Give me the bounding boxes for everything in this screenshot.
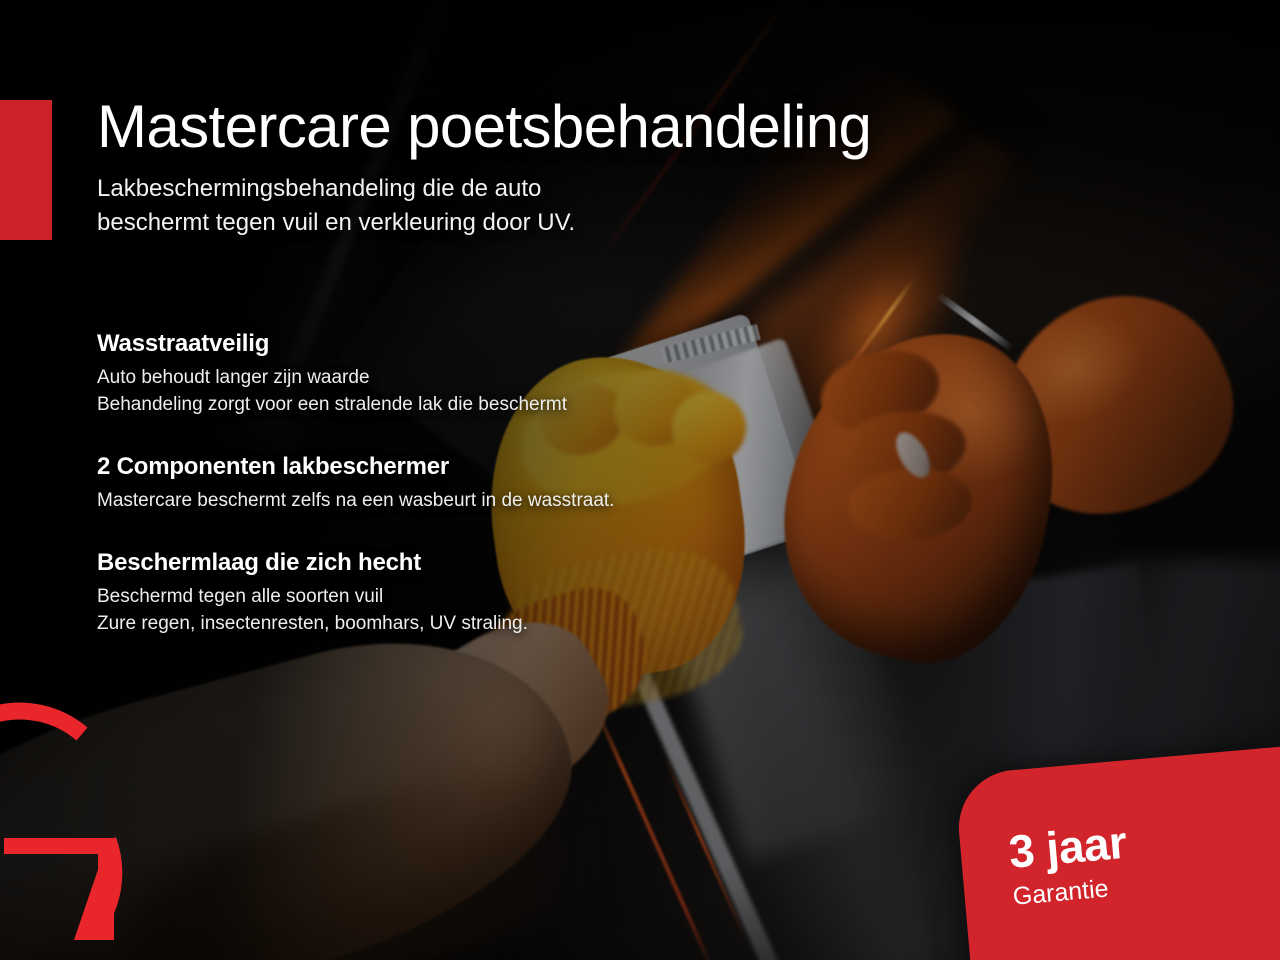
feature-item: Wasstraatveilig Auto behoudt langer zijn…	[97, 330, 857, 419]
feature-line: Mastercare beschermt zelfs na een wasbeu…	[97, 488, 857, 515]
subtitle-line-2: beschermt tegen vuil en verkleuring door…	[97, 206, 575, 240]
feature-line: Zure regen, insectenresten, boomhars, UV…	[97, 611, 857, 638]
red-accent-bar	[0, 100, 52, 240]
page-title: Mastercare poetsbehandeling	[97, 92, 871, 161]
feature-heading: 2 Componenten lakbeschermer	[97, 453, 857, 481]
feature-item: Beschermlaag die zich hecht Beschermd te…	[97, 549, 857, 638]
subtitle-line-1: Lakbeschermingsbehandeling die de auto	[97, 172, 575, 206]
feature-line: Behandeling zorgt voor een stralende lak…	[97, 392, 857, 419]
feature-heading: Beschermlaag die zich hecht	[97, 549, 857, 577]
feature-line: Beschermd tegen alle soorten vuil	[97, 584, 857, 611]
feature-list: Wasstraatveilig Auto behoudt langer zijn…	[97, 330, 857, 638]
feature-line: Auto behoudt langer zijn waarde	[97, 365, 857, 392]
page-subtitle: Lakbeschermingsbehandeling die de auto b…	[97, 172, 575, 240]
promo-banner: Mastercare poetsbehandeling Lakbeschermi…	[0, 0, 1280, 960]
feature-heading: Wasstraatveilig	[97, 330, 857, 358]
feature-item: 2 Componenten lakbeschermer Mastercare b…	[97, 453, 857, 515]
arrow-swoosh-logo-icon	[0, 690, 146, 940]
